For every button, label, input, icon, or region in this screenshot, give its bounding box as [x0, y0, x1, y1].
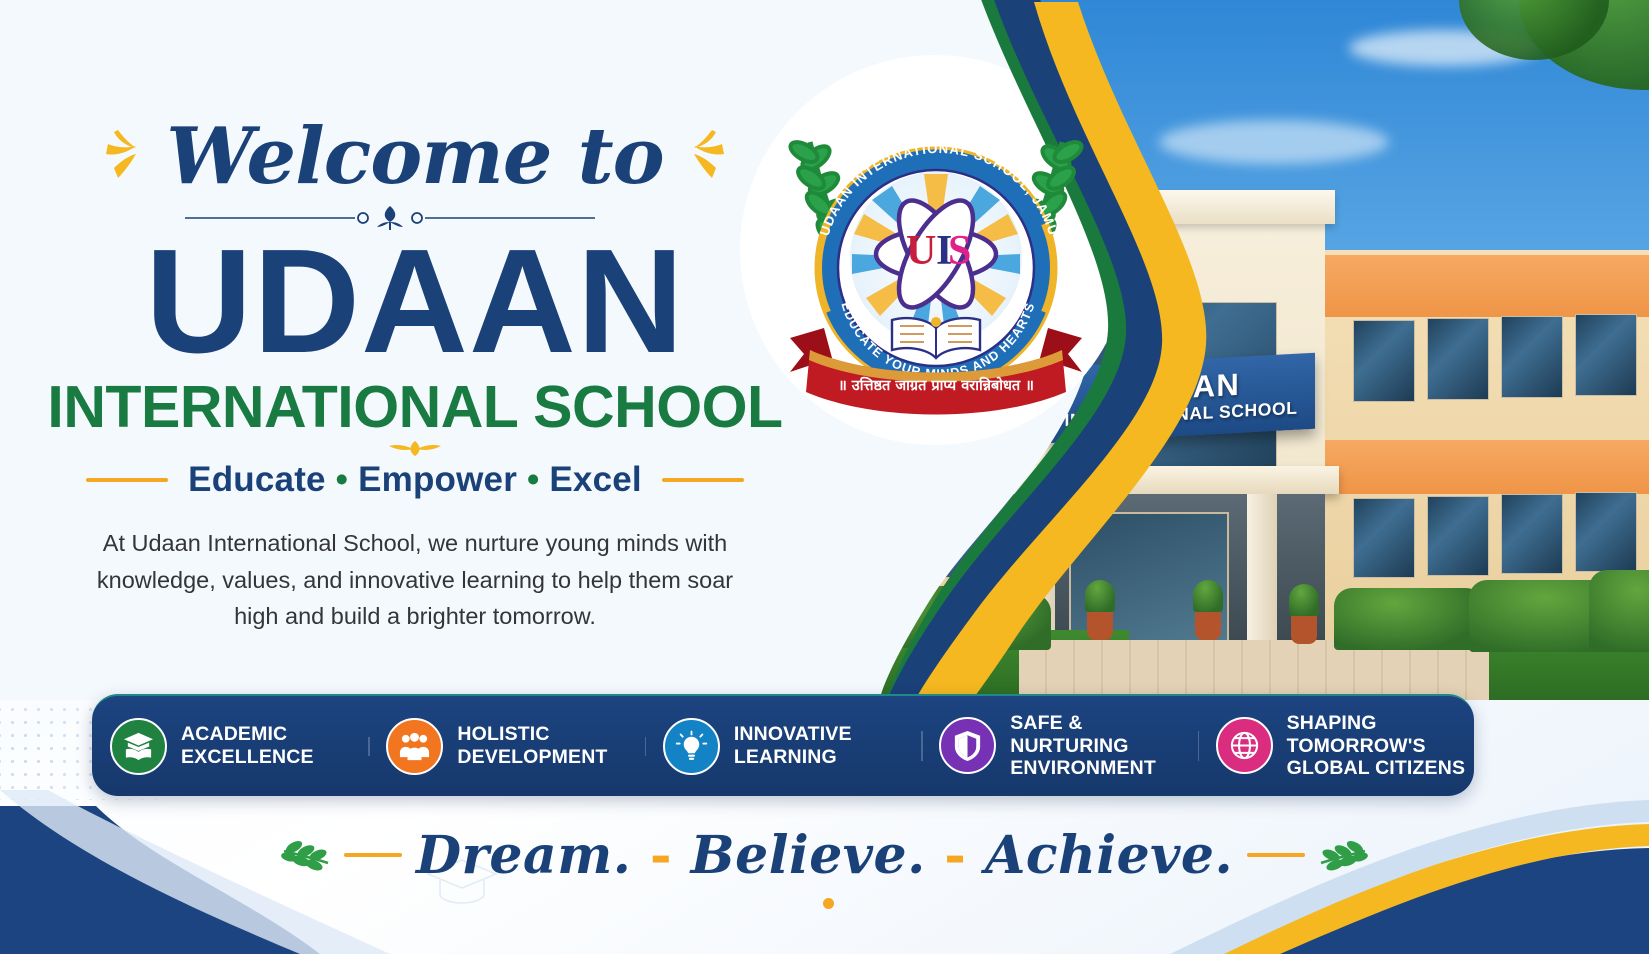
cloud-3 — [1159, 120, 1389, 164]
tagline-rule-right — [662, 478, 744, 482]
welcome-text: Welcome to — [166, 118, 663, 196]
planter-plant-1 — [1085, 580, 1115, 612]
globe-icon — [1216, 717, 1273, 774]
window-row2-e — [1501, 494, 1563, 574]
bottom-motto-row: Dream. - Believe. - Achieve. — [0, 812, 1649, 898]
welcome-banner: UDAAN INTERNATIONAL SCHOOL — [0, 0, 1649, 954]
motto-separator-1: - — [650, 825, 672, 886]
hedge-2 — [941, 594, 1051, 650]
window-row1-c — [1353, 320, 1415, 402]
tagline: Educate • Empower • Excel — [188, 460, 642, 500]
motto-accent-dot — [823, 898, 834, 909]
window-row1-e — [1501, 316, 1563, 398]
motto-rule-right — [1247, 853, 1305, 857]
tagline-rule-left — [86, 478, 168, 482]
feature-item-innovative-learning[interactable]: INNOVATIVE LEARNING — [645, 718, 921, 775]
leaf-sprig-right-icon — [1319, 833, 1371, 877]
feature-item-academic-excellence[interactable]: ACADEMIC EXCELLENCE — [92, 718, 368, 775]
tagline-word-3: Excel — [549, 460, 641, 499]
window-row2-b — [941, 500, 999, 578]
hedge-3 — [1334, 588, 1484, 650]
motto-separator-2: - — [944, 825, 966, 886]
portico-roof — [979, 466, 1339, 494]
window-row2-a — [873, 500, 931, 578]
small-ornament — [365, 438, 465, 460]
feature-item-safe-nurturing-environment[interactable]: SAFE & NURTURING ENVIRONMENT — [921, 712, 1197, 780]
tagline-word-2: Empower — [358, 460, 517, 499]
lightbulb-icon — [663, 718, 720, 775]
welcome-row: Welcome to — [0, 118, 830, 196]
sparkle-burst-left-icon — [102, 126, 148, 188]
tagline-row: Educate • Empower • Excel — [0, 460, 830, 500]
feature-label: SAFE & NURTURING ENVIRONMENT — [1010, 712, 1191, 780]
feature-label: INNOVATIVE LEARNING — [734, 723, 852, 768]
motto-word-2: Believe. — [691, 825, 926, 886]
leaf-sprig-left-icon — [278, 833, 330, 877]
description-text: At Udaan International School, we nurtur… — [95, 525, 735, 635]
feature-label: ACADEMIC EXCELLENCE — [181, 723, 314, 768]
bottom-motto: Dream. - Believe. - Achieve. — [416, 825, 1233, 886]
logo-monogram-s: S — [948, 228, 971, 274]
feature-label: HOLISTIC DEVELOPMENT — [457, 723, 607, 768]
tagline-word-1: Educate — [188, 460, 326, 499]
cloud-2 — [979, 44, 1089, 76]
planter-plant-2 — [1193, 580, 1223, 612]
planter-plant-3 — [1289, 584, 1319, 616]
page-subtitle-international-school: INTERNATIONAL SCHOOL — [0, 378, 830, 437]
window-row1-d — [1427, 318, 1489, 400]
book-watermark-icon-2 — [744, 16, 822, 72]
sparkle-burst-right-icon — [682, 126, 728, 188]
logo-monogram-group: U I S — [906, 228, 971, 274]
portico-column-right — [1247, 494, 1277, 654]
feature-label: SHAPING TOMORROW'S GLOBAL CITIZENS — [1287, 712, 1468, 780]
window-row2-d — [1427, 496, 1489, 576]
window-row1-f — [1575, 314, 1637, 396]
tagline-bullet-1: • — [336, 460, 348, 499]
window-row2-f — [1575, 492, 1637, 572]
feature-item-global-citizens[interactable]: SHAPING TOMORROW'S GLOBAL CITIZENS — [1198, 712, 1474, 780]
signboard-line1: UDAAN — [1122, 369, 1240, 406]
book-watermark-icon-1 — [180, 32, 266, 94]
shield-icon — [939, 717, 996, 774]
logo-sanskrit-motto: ॥ उत्तिष्ठत जाग्रत प्राप्य वरान्निबोधत ॥ — [838, 376, 1034, 394]
tagline-bullet-2: • — [527, 460, 539, 499]
hedge-5 — [1589, 570, 1649, 650]
logo-monogram-u: U — [906, 228, 936, 274]
graduation-cap-book-icon — [110, 718, 167, 775]
motto-rule-left — [344, 853, 402, 857]
feature-bar: ACADEMIC EXCELLENCE HOLISTIC DEVELOPMENT… — [92, 694, 1474, 796]
motto-word-1: Dream. — [416, 825, 631, 886]
school-logo-emblem: UDAAN INTERNATIONAL SCHOOL, JAMU EDUCATE… — [766, 82, 1106, 422]
motto-word-3: Achieve. — [985, 825, 1233, 886]
page-title-udaan: UDAAN — [0, 228, 830, 376]
window-row2-c — [1353, 498, 1415, 578]
feature-item-holistic-development[interactable]: HOLISTIC DEVELOPMENT — [368, 718, 644, 775]
people-group-icon — [386, 718, 443, 775]
